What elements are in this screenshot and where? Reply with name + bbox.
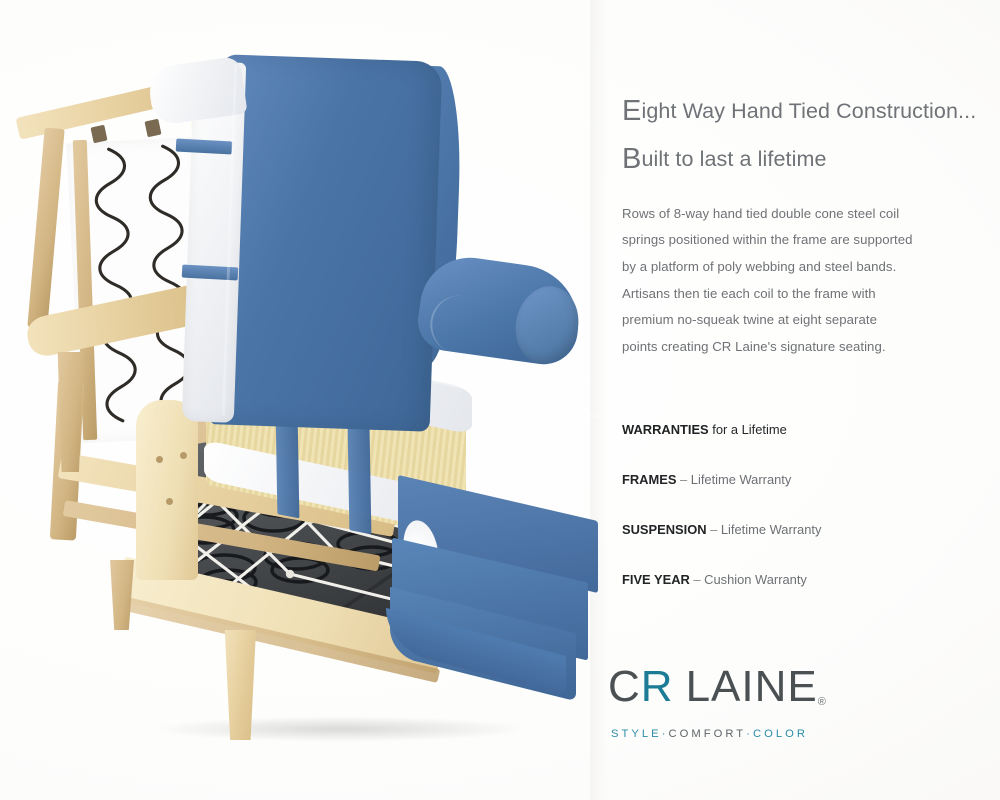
registered-trademark-icon: ® [818,696,826,708]
spring-clip [144,119,161,138]
headline: Eight Way Hand Tied Construction... Buil… [622,96,982,175]
spring-clip [90,125,107,144]
warranty-desc: Lifetime Warranty [721,522,822,537]
body-line: by a platform of poly webbing and steel … [622,254,982,281]
headline-line-2-text: uilt to last a lifetime [641,147,826,171]
logo-laine: LAINE [686,662,818,711]
tagline-dot-2: · [746,728,753,740]
warranty-row-frames: FRAMES – Lifetime Warranty [622,472,982,487]
warranty-row-five-year: FIVE YEAR – Cushion Warranty [622,572,982,587]
dowel-hole [156,456,163,463]
ground-shadow [150,716,530,742]
warranty-dash: – [690,572,704,587]
logo-wordmark: CRLAINE® [608,664,838,725]
body-paragraph: Rows of 8-way hand tied double cone stee… [622,201,982,361]
warranties-section: WARRANTIES for a Lifetime FRAMES – Lifet… [622,422,982,587]
warranty-row-suspension: SUSPENSION – Lifetime Warranty [622,522,982,537]
logo-letter-c: C [608,662,641,711]
body-line: premium no-squeak twine at eight separat… [622,307,982,334]
warranty-dash: – [707,522,721,537]
body-line: springs positioned within the frame are … [622,227,982,254]
frame-leg-mid [108,560,134,630]
headline-line-1-text: ight Way Hand Tied Construction... [641,99,976,123]
dowel-hole [180,452,187,459]
body-line: Artisans then tie each coil to the frame… [622,281,982,308]
body-line: Rows of 8-way hand tied double cone stee… [622,201,982,228]
warranties-heading-rest: for a Lifetime [709,422,787,437]
headline-dropcap-e: E [622,95,641,127]
logo-letter-r: R [641,662,674,711]
frame-arm-post [136,400,198,580]
warranty-term: SUSPENSION [622,522,707,537]
tagline-color: COLOR [753,728,808,740]
warranty-term: FRAMES [622,472,676,487]
headline-line-1: Eight Way Hand Tied Construction... [622,96,982,126]
cr-laine-logo: CRLAINE® STYLE·COMFORT·COLOR [608,664,838,740]
dowel-hole [166,498,173,505]
chair-construction-photo [0,0,620,800]
logo-tagline: STYLE·COMFORT·COLOR [611,728,838,740]
headline-line-2: Built to last a lifetime [622,144,982,174]
tagline-comfort: COMFORT [668,728,746,740]
warranty-desc: Lifetime Warranty [691,472,792,487]
headline-dropcap-b: B [622,143,641,175]
frame-back-post-left [27,128,64,329]
warranties-heading: WARRANTIES for a Lifetime [622,422,982,437]
warranties-heading-bold: WARRANTIES [622,422,709,437]
poster-page: Eight Way Hand Tied Construction... Buil… [0,0,1000,800]
warranty-term: FIVE YEAR [622,572,690,587]
tagline-style: STYLE [611,728,662,740]
warranty-dash: – [676,472,690,487]
body-line: points creating CR Laine's signature sea… [622,334,982,361]
warranty-desc: Cushion Warranty [704,572,807,587]
